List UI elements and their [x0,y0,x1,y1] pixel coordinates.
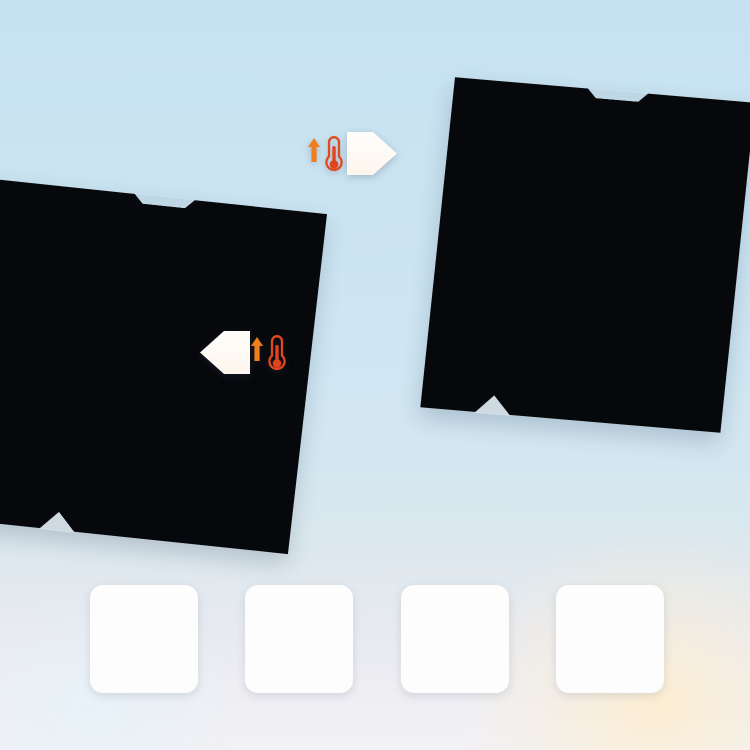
filament-card-abs[interactable] [556,585,664,693]
arrow-up-icon [250,336,264,362]
plate-surface-letters [420,77,750,433]
filament-card-pla[interactable] [90,585,198,693]
octopus-model [560,587,646,675]
shark-head-model [94,587,180,675]
badge-plaque [200,331,250,374]
fish-model [249,587,335,675]
product-infographic [0,0,750,750]
filament-card-tpu[interactable] [401,585,509,693]
plate-front-tab [474,391,540,418]
filament-card-petg[interactable] [245,585,353,693]
thermometer-icon [264,333,290,373]
thermometer-icon [321,134,347,174]
max-temp-badge-bottom [200,331,290,374]
badge-plaque [347,132,397,175]
filament-card-list [90,585,664,693]
letters-texture [420,77,750,433]
arrow-up-icon [307,137,321,163]
max-temp-badge-top [307,132,397,175]
build-plate-letters-side [420,77,750,433]
phoenix-bird-model [405,587,491,675]
